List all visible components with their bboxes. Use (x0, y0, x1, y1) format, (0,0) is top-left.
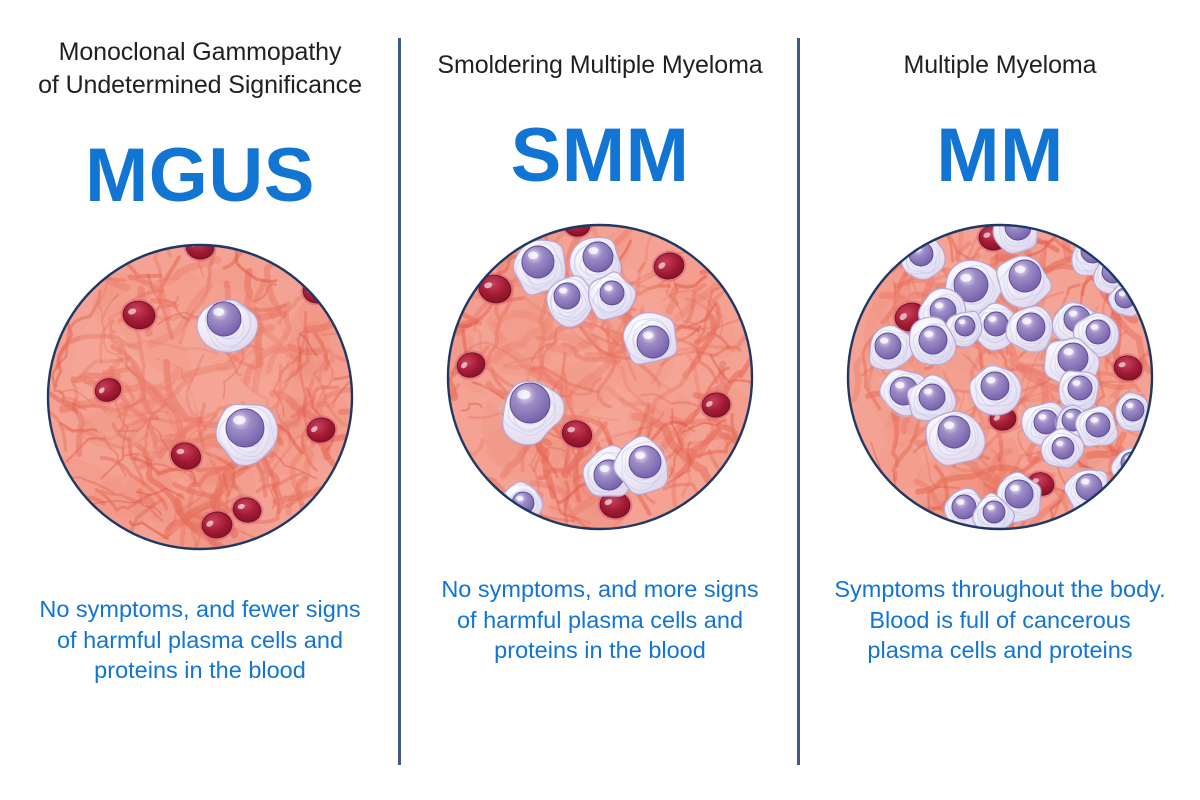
infographic-board: Monoclonal Gammopathy of Undetermined Si… (0, 0, 1200, 800)
panel-acronym-mgus: MGUS (85, 138, 315, 214)
panel-caption-smm: No symptoms, and more signs of harmful p… (408, 574, 792, 666)
plasma-cell (1059, 371, 1099, 410)
panel-caption-mgus: No symptoms, and fewer signs of harmful … (8, 594, 392, 686)
bone-marrow-field-mm (845, 222, 1155, 532)
bone-marrow-field-smm (445, 222, 755, 532)
panel-caption-mm: Symptoms throughout the body. Blood is f… (808, 574, 1192, 666)
panel-mgus: Monoclonal Gammopathy of Undetermined Si… (0, 0, 400, 800)
smm-svg (445, 222, 755, 532)
panel-mm: Multiple Myeloma MM (800, 0, 1200, 800)
panel-divider-1 (398, 38, 401, 765)
panel-title-mgus: Monoclonal Gammopathy of Undetermined Si… (20, 36, 380, 102)
panel-acronym-mm: MM (936, 118, 1064, 194)
panel-divider-2 (797, 38, 800, 765)
panel-title-mm: Multiple Myeloma (820, 49, 1180, 82)
panel-smm: Smoldering Multiple Myeloma SMM (400, 0, 800, 800)
mm-svg (845, 222, 1155, 532)
mgus-svg (45, 242, 355, 552)
bone-marrow-field-mgus (45, 242, 355, 552)
plasma-cell (623, 313, 677, 365)
panel-acronym-smm: SMM (511, 118, 690, 194)
panel-title-smm: Smoldering Multiple Myeloma (420, 49, 780, 82)
